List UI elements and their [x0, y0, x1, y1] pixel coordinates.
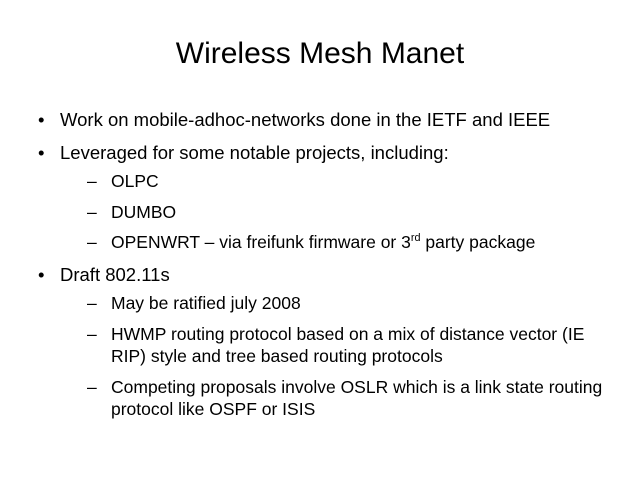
- slide-body-list: • Work on mobile-adhoc-networks done in …: [34, 108, 618, 421]
- bullet-marker-icon: •: [38, 108, 44, 132]
- bullet-marker-icon: •: [38, 263, 44, 287]
- dash-marker-icon: –: [87, 376, 97, 399]
- slide: Wireless Mesh Manet • Work on mobile-adh…: [0, 0, 640, 480]
- bullet-item-level2: – HWMP routing protocol based on a mix o…: [87, 323, 618, 368]
- bullet-text: Draft 802.11s: [60, 264, 170, 285]
- bullet-item-level2: – DUMBO: [87, 201, 618, 224]
- sub-bullet-text-after: party package: [421, 232, 536, 252]
- sub-bullet-list: – OLPC – DUMBO – OPENWRT – via freifunk …: [87, 170, 618, 254]
- dash-marker-icon: –: [87, 170, 97, 193]
- bullet-item-level2: – Competing proposals involve OSLR which…: [87, 376, 618, 421]
- bullet-item-level1: • Leveraged for some notable projects, i…: [34, 141, 618, 254]
- dash-marker-icon: –: [87, 231, 97, 254]
- bullet-item-level2: – OPENWRT – via freifunk firmware or 3rd…: [87, 231, 618, 254]
- sub-bullet-list: – May be ratified july 2008 – HWMP routi…: [87, 292, 618, 421]
- bullet-marker-icon: •: [38, 141, 44, 165]
- bullet-item-level2: – OLPC: [87, 170, 618, 193]
- bullet-item-level1: • Work on mobile-adhoc-networks done in …: [34, 108, 618, 132]
- sub-bullet-text: May be ratified july 2008: [111, 293, 301, 313]
- sub-bullet-text-before: OPENWRT – via freifunk firmware or 3: [111, 232, 411, 252]
- page-title: Wireless Mesh Manet: [0, 36, 640, 72]
- sub-bullet-text: HWMP routing protocol based on a mix of …: [111, 324, 584, 367]
- dash-marker-icon: –: [87, 292, 97, 315]
- bullet-text: Work on mobile-adhoc-networks done in th…: [60, 109, 550, 130]
- bullet-text: Leveraged for some notable projects, inc…: [60, 142, 449, 163]
- sub-bullet-text: Competing proposals involve OSLR which i…: [111, 377, 602, 420]
- ordinal-superscript: rd: [411, 232, 421, 244]
- sub-bullet-text: OLPC: [111, 171, 159, 191]
- sub-bullet-text: OPENWRT – via freifunk firmware or 3rd p…: [111, 232, 535, 252]
- dash-marker-icon: –: [87, 323, 97, 346]
- dash-marker-icon: –: [87, 201, 97, 224]
- bullet-item-level1: • Draft 802.11s – May be ratified july 2…: [34, 263, 618, 421]
- bullet-item-level2: – May be ratified july 2008: [87, 292, 618, 315]
- sub-bullet-text: DUMBO: [111, 202, 176, 222]
